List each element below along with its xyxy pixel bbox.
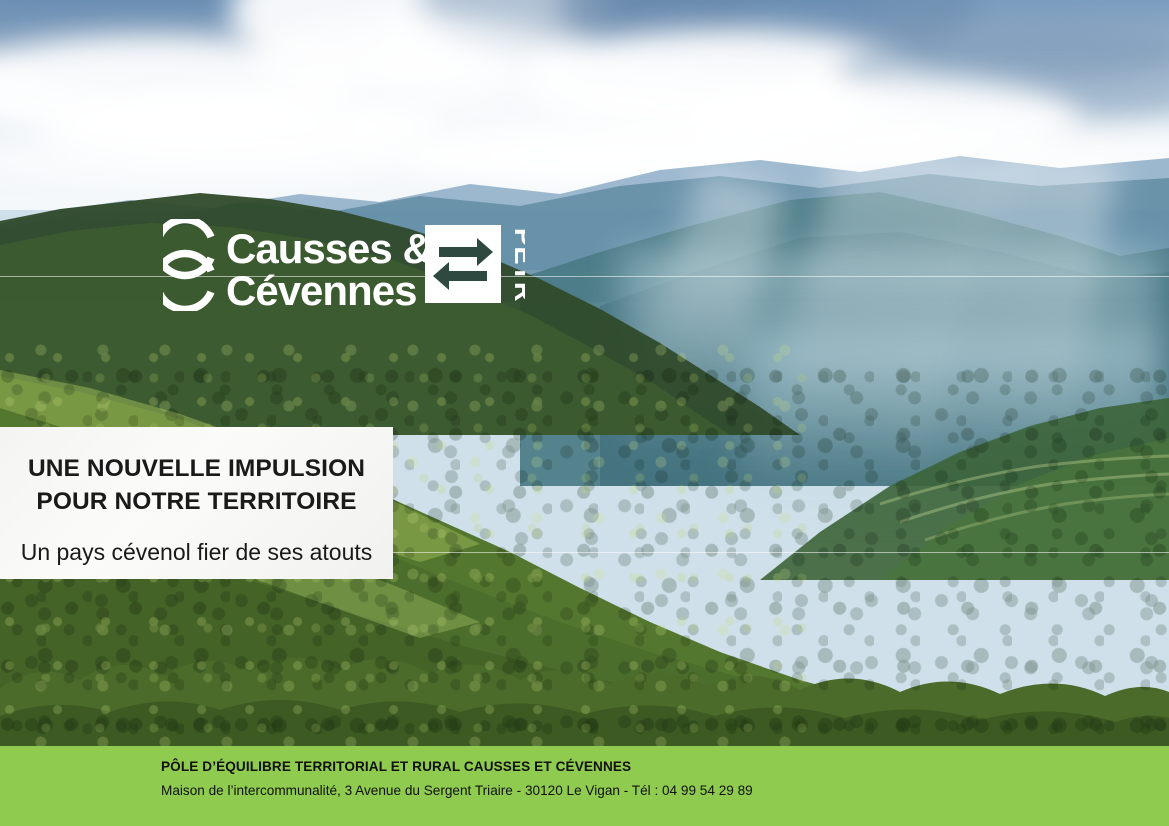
- footer-content: PÔLE D’ÉQUILIBRE TERRITORIAL ET RURAL CA…: [161, 757, 753, 802]
- headline-panel: UNE NOUVELLE IMPULSION POUR NOTRE TERRIT…: [0, 427, 393, 579]
- cover-photo: Causses & Cévennes PETR: [0, 0, 1169, 746]
- headline-title-line1: UNE NOUVELLE IMPULSION: [20, 453, 373, 486]
- headline-subtitle: Un pays cévenol fier de ses atouts: [20, 539, 373, 567]
- brochure-cover-page: Causses & Cévennes PETR UNE NOUVELLE IMP…: [0, 0, 1169, 826]
- headline-title-line2: POUR NOTRE TERRITOIRE: [20, 486, 373, 519]
- footer-address-line: Maison de l’intercommunalité, 3 Avenue d…: [161, 781, 753, 801]
- footer-bar: PÔLE D’ÉQUILIBRE TERRITORIAL ET RURAL CA…: [0, 746, 1169, 826]
- footer-organisation-name: PÔLE D’ÉQUILIBRE TERRITORIAL ET RURAL CA…: [161, 757, 753, 777]
